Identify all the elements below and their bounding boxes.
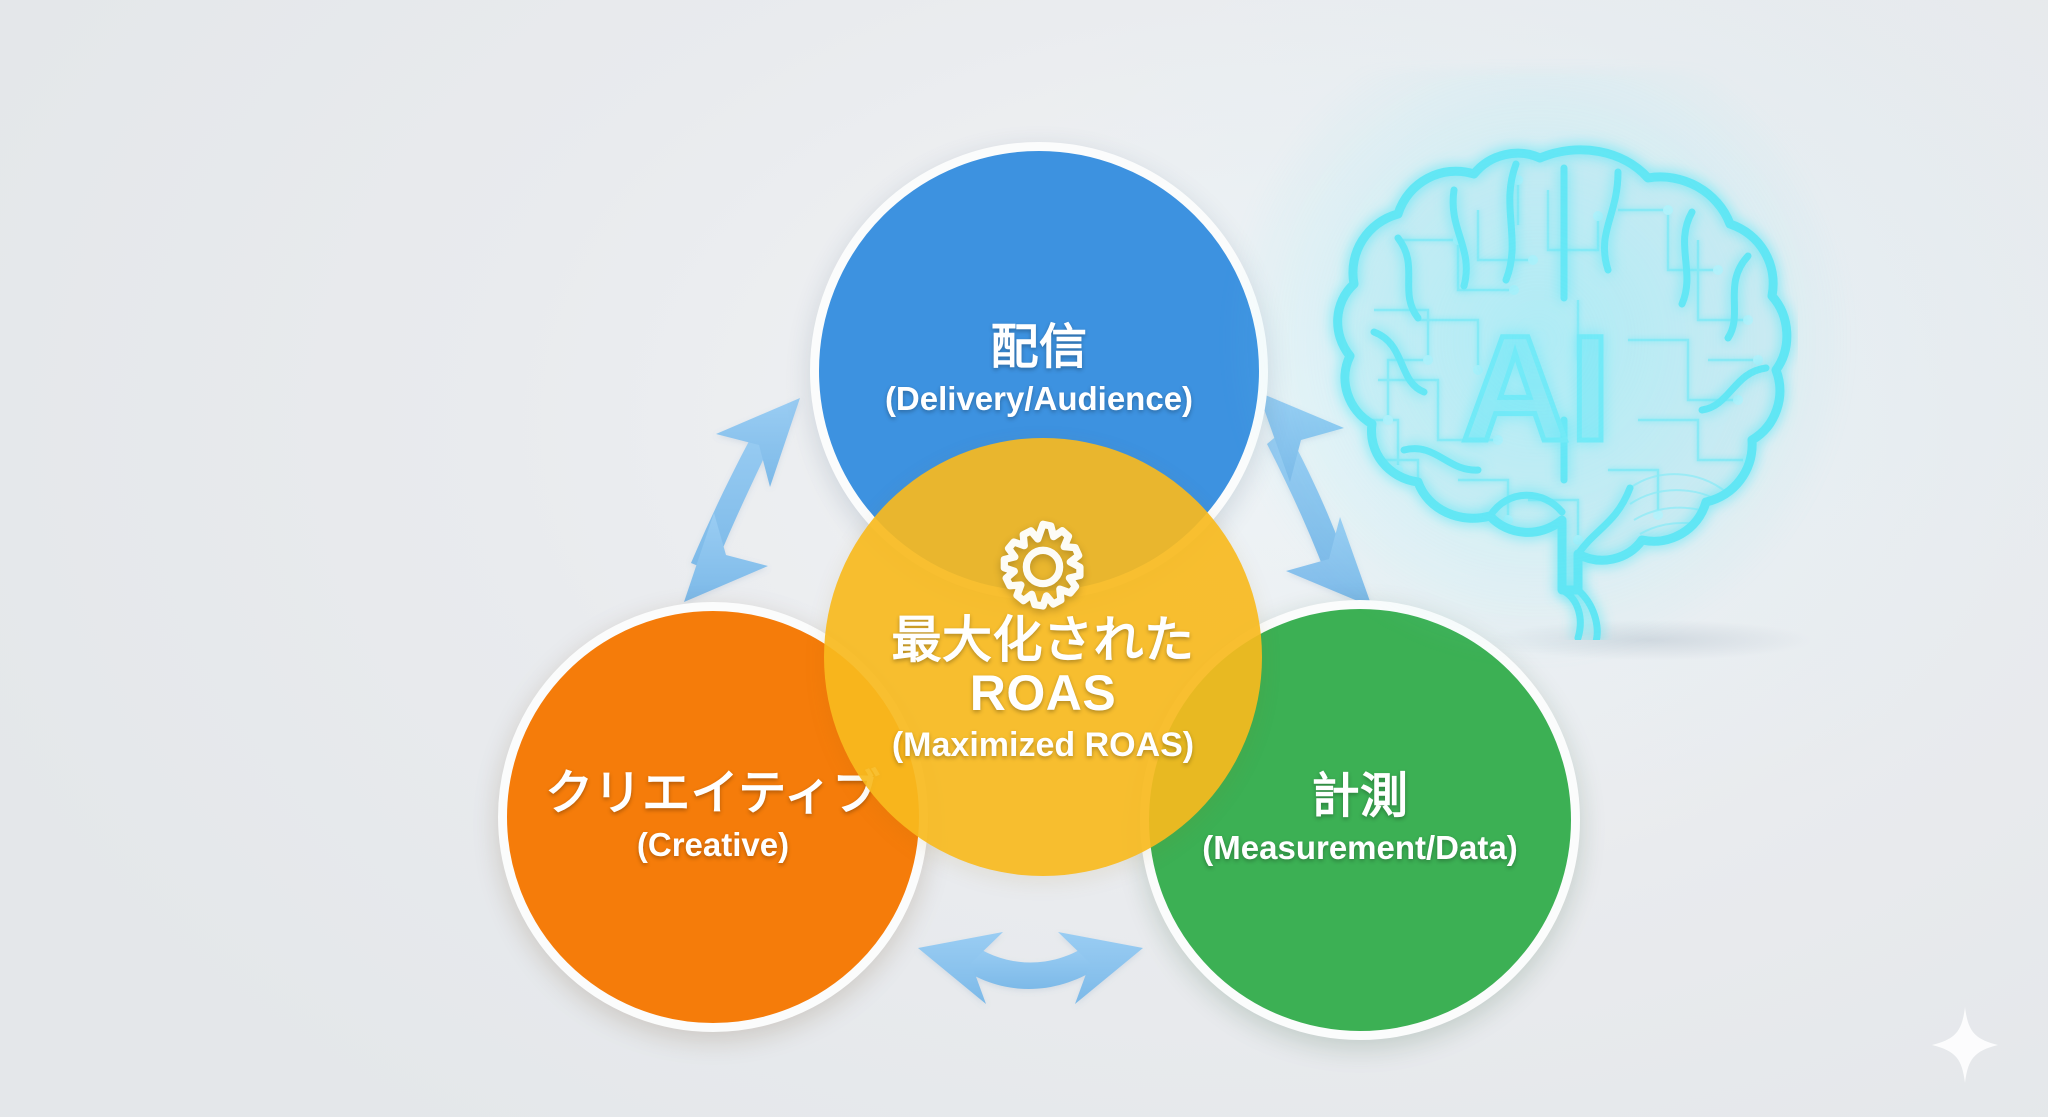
circle-delivery-label-jp: 配信: [885, 323, 1193, 373]
ai-brain-graphic: AI: [1278, 120, 1798, 640]
circle-center-label-en: (Maximized ROAS): [824, 725, 1262, 766]
circle-measurement-label-jp: 計測: [1202, 772, 1517, 822]
gear-icon: [991, 516, 1095, 620]
circle-center-labels: 最大化されたROAS (Maximized ROAS): [824, 614, 1262, 766]
circle-delivery-labels: 配信 (Delivery/Audience): [885, 323, 1193, 419]
brain-glow: [1218, 70, 1858, 670]
circle-creative-label-en: (Creative): [545, 825, 881, 865]
circle-delivery-label-en: (Delivery/Audience): [885, 379, 1193, 419]
circle-creative-label-jp: クリエイティブ: [545, 769, 881, 819]
diagram-canvas: AI 配信 (Delivery/Audience) クリエイティブ (Creat…: [0, 0, 2048, 1117]
sparkle-icon: [1930, 1005, 2000, 1085]
circle-maximized-roas[interactable]: 最大化されたROAS (Maximized ROAS): [824, 438, 1262, 876]
circle-measurement-labels: 計測 (Measurement/Data): [1202, 772, 1517, 868]
circle-center-label-jp: 最大化されたROAS: [824, 614, 1262, 719]
circle-measurement-label-en: (Measurement/Data): [1202, 828, 1517, 868]
circle-creative-labels: クリエイティブ (Creative): [545, 769, 881, 865]
